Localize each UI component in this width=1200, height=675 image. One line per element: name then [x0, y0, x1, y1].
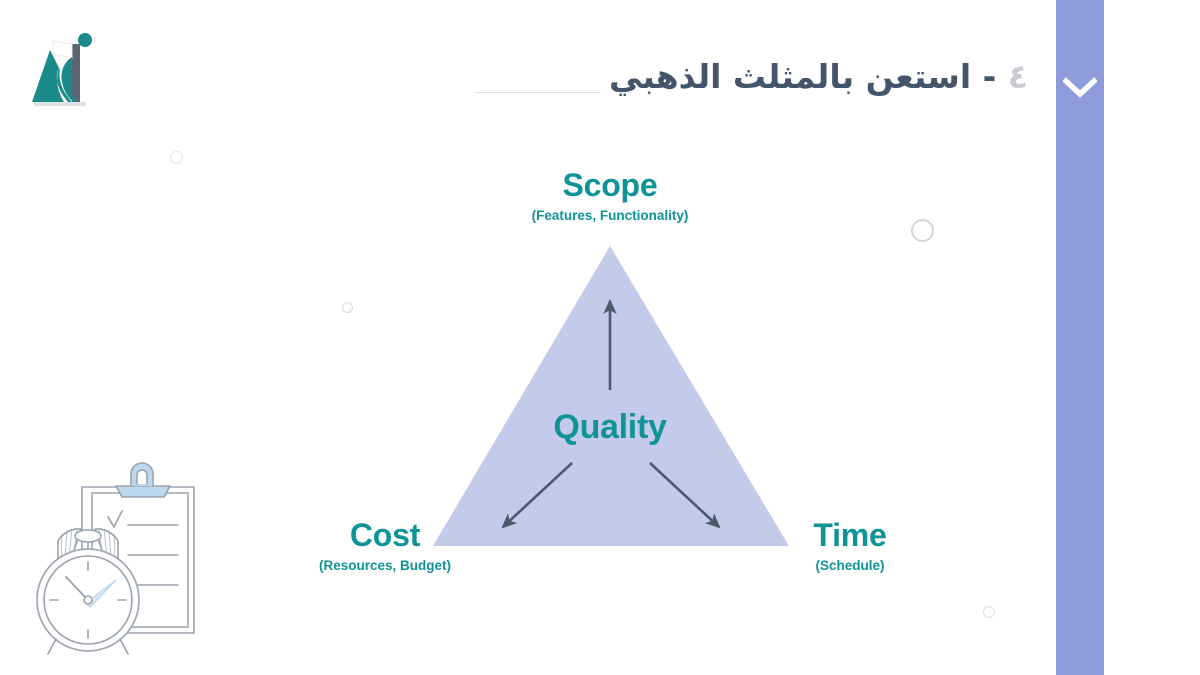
title-underline-rule	[475, 92, 601, 93]
vertex-subtitle-cost: (Resources, Budget)	[245, 558, 525, 574]
chevron-down-icon[interactable]	[1056, 64, 1104, 112]
decorative-circle	[983, 606, 995, 618]
vertex-subtitle-scope: (Features, Functionality)	[470, 208, 750, 224]
vertex-label-cost: Cost (Resources, Budget)	[245, 518, 525, 574]
triangle-shape	[433, 246, 789, 546]
page-title-index: ٤	[1008, 57, 1028, 96]
vertex-title-time: Time	[710, 518, 990, 553]
golden-triangle-diagram: Quality Scope (Features, Functionality) …	[260, 150, 960, 590]
alarm-clock-clipboard-illustration	[28, 455, 220, 655]
page-title-text: ٤ - استعن بالمثلث الذهبي	[609, 56, 1028, 97]
vertex-title-cost: Cost	[245, 518, 525, 553]
vertex-label-time: Time (Schedule)	[710, 518, 990, 574]
triangle-center-label: Quality	[460, 408, 760, 447]
vertex-title-scope: Scope	[470, 168, 750, 203]
page-title-separator: -	[971, 57, 1008, 96]
slide-canvas: ٤ - استعن بالمثلث الذهبي Quality	[0, 0, 1200, 675]
page-title-label: استعن بالمثلث الذهبي	[609, 57, 971, 96]
decorative-circle	[170, 151, 183, 164]
page-title: ٤ - استعن بالمثلث الذهبي	[609, 56, 1028, 97]
brand-logo	[28, 28, 92, 110]
vertex-label-scope: Scope (Features, Functionality)	[470, 168, 750, 224]
vertex-subtitle-time: (Schedule)	[710, 558, 990, 574]
